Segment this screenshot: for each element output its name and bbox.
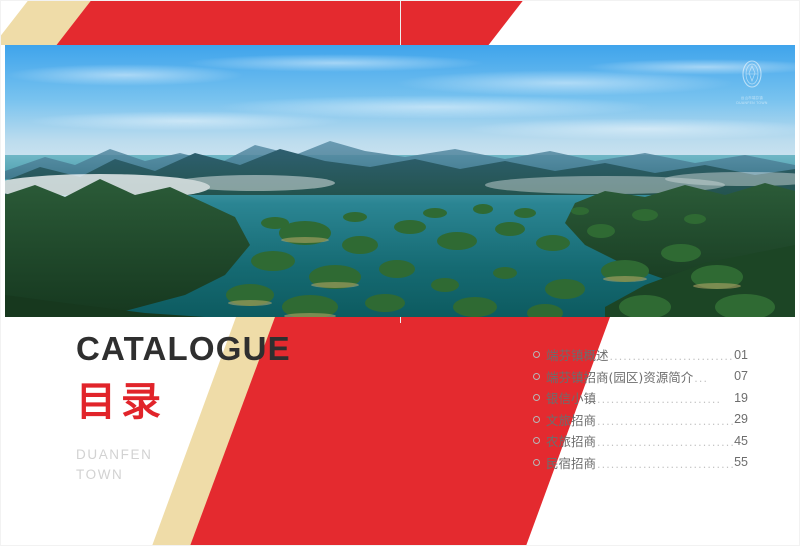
table-of-contents: 端芬镇概述 ............................ 01 端芬… — [533, 344, 748, 473]
subtitle-line-2: TOWN — [76, 465, 291, 485]
toc-entry-page: 01 — [734, 348, 748, 362]
circle-bullet-icon — [533, 351, 540, 358]
toc-entry-label: 农旅招商 — [546, 431, 596, 450]
circle-bullet-icon — [533, 373, 540, 380]
toc-entry-label: 端芬镇概述 — [546, 345, 609, 364]
circle-bullet-icon — [533, 416, 540, 423]
toc-leader-dots: ........................... — [597, 393, 733, 406]
catalogue-page: 台山市端芬镇 DUANFEN TOWN CATALOGUE 目录 DUANFEN… — [0, 0, 800, 546]
emblem-en-text: DUANFEN TOWN — [731, 101, 773, 106]
top-banner — [0, 0, 800, 45]
page-subtitle: DUANFEN TOWN — [76, 445, 291, 484]
circle-bullet-icon — [533, 394, 540, 401]
page-gutter-line-lower — [400, 317, 401, 323]
subtitle-line-1: DUANFEN — [76, 445, 291, 465]
hero-photo: 台山市端芬镇 DUANFEN TOWN — [5, 45, 795, 317]
page-title-block: CATALOGUE 目录 DUANFEN TOWN — [76, 332, 291, 484]
toc-entry[interactable]: 农旅招商 .............................. 45 — [533, 430, 748, 452]
page-title-en: CATALOGUE — [76, 332, 291, 365]
page-gutter-line — [400, 0, 401, 45]
toc-entry-page: 19 — [734, 391, 748, 405]
toc-entry-page: 07 — [734, 369, 748, 383]
toc-entry-label: 银信小镇 — [546, 388, 596, 407]
toc-leader-dots: .............................. — [597, 436, 733, 449]
toc-entry[interactable]: 端芬镇概述 ............................ 01 — [533, 344, 748, 366]
duanfen-town-emblem: 台山市端芬镇 DUANFEN TOWN — [731, 59, 773, 106]
circle-bullet-icon — [533, 437, 540, 444]
circle-bullet-icon — [533, 459, 540, 466]
toc-entry[interactable]: 端芬镇招商(园区)资源简介 ... 07 — [533, 366, 748, 388]
toc-entry-label: 端芬镇招商(园区)资源简介 — [546, 367, 693, 386]
toc-entry-page: 45 — [734, 434, 748, 448]
page-title-cn: 目录 — [76, 382, 291, 422]
toc-leader-dots: .............................. — [597, 415, 733, 428]
toc-leader-dots: .............................. — [597, 458, 733, 471]
toc-leader-dots: ............................ — [610, 350, 734, 363]
toc-entry-label: 民宿招商 — [546, 453, 596, 472]
toc-entry[interactable]: 银信小镇 ........................... 19 — [533, 387, 748, 409]
toc-entry-page: 29 — [734, 412, 748, 426]
toc-entry[interactable]: 文旅招商 .............................. 29 — [533, 409, 748, 431]
toc-entry[interactable]: 民宿招商 .............................. 55 — [533, 452, 748, 474]
toc-leader-dots: ... — [694, 372, 733, 385]
aerial-lake-illustration — [5, 45, 795, 317]
emblem-icon — [739, 59, 765, 93]
toc-entry-page: 55 — [734, 455, 748, 469]
toc-entry-label: 文旅招商 — [546, 410, 596, 429]
top-red-band — [55, 0, 525, 45]
